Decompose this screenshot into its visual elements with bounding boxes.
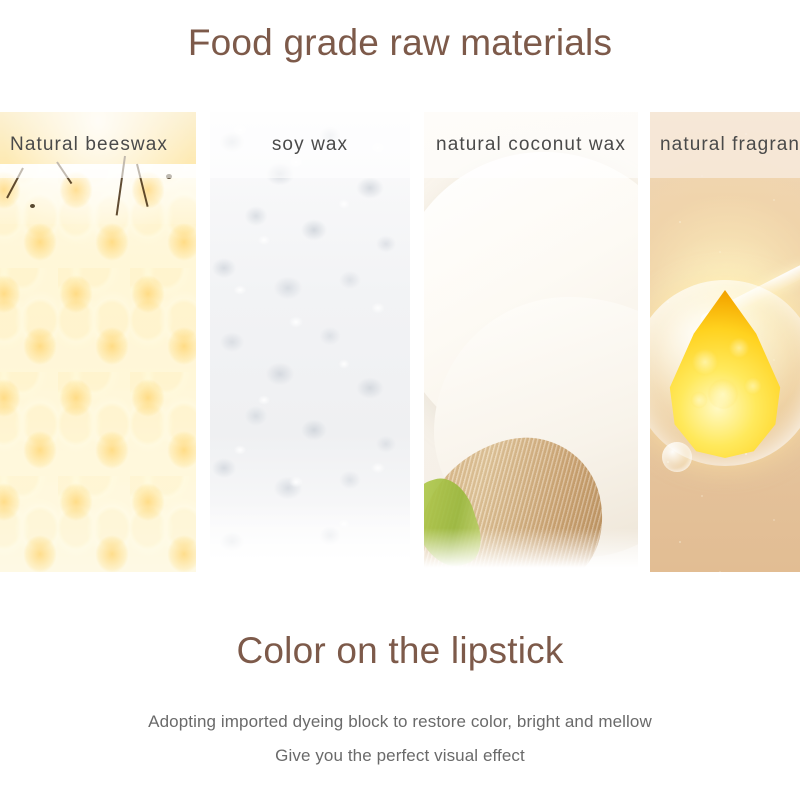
panel-label-soywax: soy wax xyxy=(210,112,410,178)
material-panel-fragrance[interactable]: natural fragrance xyxy=(650,112,800,572)
fragrance-image xyxy=(650,112,800,572)
panel-label-fragrance: natural fragrance xyxy=(650,112,800,178)
small-bubble-icon xyxy=(662,442,692,472)
coconut-image xyxy=(424,112,638,572)
page-title: Food grade raw materials xyxy=(0,22,800,64)
beeswax-image xyxy=(0,112,196,572)
coconut-bottom-fade xyxy=(424,528,638,572)
panel-label-text: soy wax xyxy=(272,134,348,156)
soywax-image xyxy=(210,112,410,572)
panel-label-text: natural coconut wax xyxy=(436,134,626,156)
section-subline-secondary: Give you the perfect visual effect xyxy=(0,746,800,766)
panel-label-beeswax: Natural beeswax xyxy=(0,112,196,178)
honeycomb-cell-shading xyxy=(0,164,196,572)
material-panel-coconut[interactable]: natural coconut wax xyxy=(424,112,638,572)
section-title: Color on the lipstick xyxy=(0,630,800,672)
section-subline-primary: Adopting imported dyeing block to restor… xyxy=(0,712,800,732)
panel-label-text: Natural beeswax xyxy=(10,134,168,156)
material-panel-soywax[interactable]: soy wax xyxy=(210,112,410,572)
panel-label-text: natural fragrance xyxy=(660,134,800,156)
material-panel-beeswax[interactable]: Natural beeswax xyxy=(0,112,196,572)
soywax-bottom-fade xyxy=(210,502,410,572)
materials-panel-strip: Natural beeswax soy wax natural coconut … xyxy=(0,112,800,572)
bee-speck-icon xyxy=(30,204,35,208)
panel-label-coconut: natural coconut wax xyxy=(424,112,638,178)
